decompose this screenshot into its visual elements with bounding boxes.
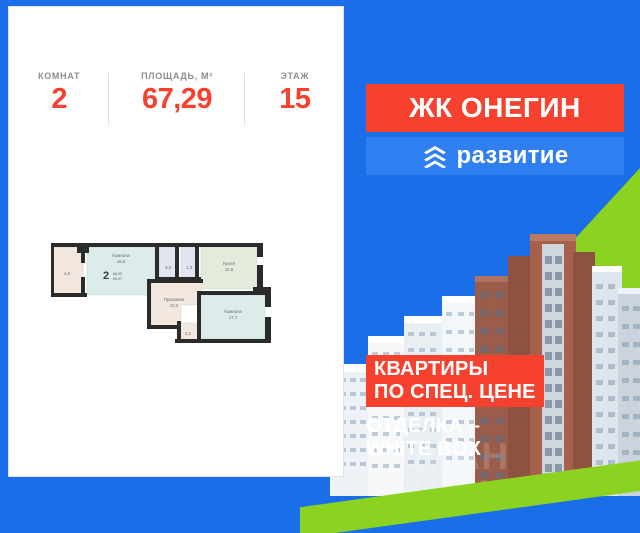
promo-text-block: КВАРТИРЫ ПО СПЕЦ. ЦЕНЕ ОТДЕЛКА – WHITE B…: [366, 355, 616, 461]
room-label: Кухня: [223, 261, 235, 266]
room-area: 16,5: [117, 259, 126, 264]
room-area: 3,2: [165, 265, 172, 270]
promo-subtext-line1: ОТДЕЛКА –: [366, 415, 616, 438]
stat-area-label: ПЛОЩАДЬ, М²: [109, 71, 244, 81]
stat-floor-label: ЭТАЖ: [245, 71, 345, 81]
developer-name-label: развитие: [457, 142, 569, 170]
stat-floor: ЭТАЖ 15: [245, 71, 345, 114]
stat-floor-value: 15: [245, 84, 345, 114]
room-area: 10,2: [170, 303, 179, 308]
room-area: 12,8: [225, 267, 234, 272]
rooms-badge-area-total: 66,05: [113, 272, 122, 276]
developer-badge: развитие: [366, 137, 624, 175]
promo-subtext: ОТДЕЛКА – WHITE BOX: [366, 415, 616, 461]
stat-rooms-value: 2: [9, 84, 109, 114]
logo-block: ЖК ОНЕГИН развитие: [366, 84, 624, 175]
listing-image: ЦИАН ID 130083423 ЖК ОНЕГИН развитие КВА…: [0, 0, 640, 533]
room-label: Прихожая: [164, 297, 185, 302]
complex-name-label: ЖК ОНЕГИН: [409, 92, 581, 124]
room-area: 17,7: [229, 315, 238, 320]
room-area: 2,2: [185, 331, 192, 336]
stat-area: ПЛОЩАДЬ, М² 67,29: [109, 71, 244, 114]
promo-subtext-line2: WHITE BOX: [366, 438, 616, 461]
floor-plan: Комната 16,5 3,2 1,3 Кухня 12,8 Прихожая…: [47, 235, 319, 355]
chevron-stack-icon: [422, 144, 448, 168]
promo-highlight: КВАРТИРЫ ПО СПЕЦ. ЦЕНЕ: [366, 355, 544, 407]
apartment-info-card: КОМНАТ 2 ПЛОЩАДЬ, М² 67,29 ЭТАЖ 15: [8, 6, 344, 477]
complex-name-badge: ЖК ОНЕГИН: [366, 84, 624, 132]
stat-area-value: 67,29: [109, 84, 244, 114]
apartment-stats: КОМНАТ 2 ПЛОЩАДЬ, М² 67,29 ЭТАЖ 15: [9, 71, 345, 135]
rooms-badge-count: 2: [103, 270, 109, 282]
stat-rooms: КОМНАТ 2: [9, 71, 109, 114]
stat-rooms-label: КОМНАТ: [9, 71, 109, 81]
room-area: 4,6: [64, 271, 71, 276]
promo-highlight-line2: ПО СПЕЦ. ЦЕНЕ: [374, 381, 536, 404]
rooms-badge-area-living: 65,47: [113, 277, 122, 281]
room-label: Комната: [224, 309, 242, 314]
room-area: 1,3: [186, 265, 193, 270]
room-label: Комната: [112, 253, 130, 258]
promo-highlight-line1: КВАРТИРЫ: [374, 358, 536, 381]
